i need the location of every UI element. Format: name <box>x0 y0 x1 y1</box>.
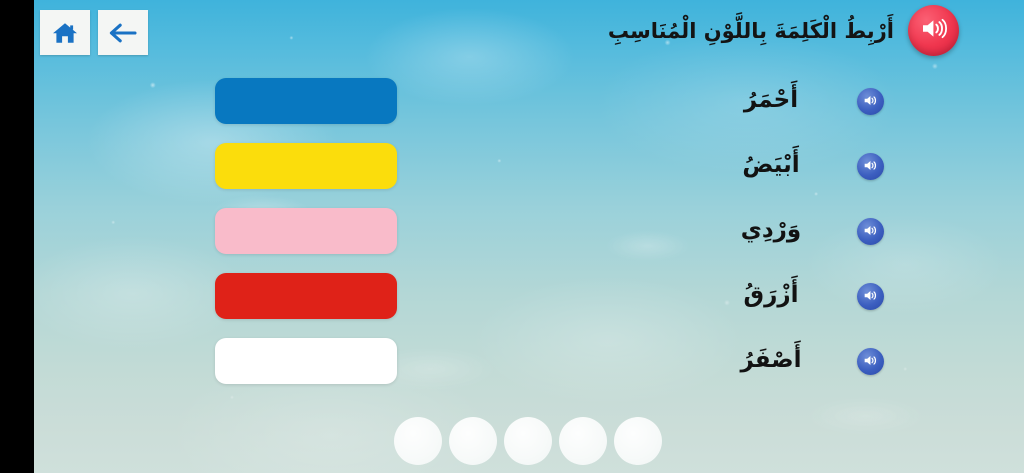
word-audio-button-blue[interactable] <box>857 283 884 310</box>
speaker-icon <box>863 352 878 371</box>
back-button[interactable] <box>98 10 148 55</box>
progress-dot[interactable] <box>449 417 497 465</box>
word-audio-button-pink[interactable] <box>857 218 884 245</box>
word-label-blue[interactable]: أَزْرَقُ <box>711 282 831 310</box>
nav-button-group <box>40 10 148 55</box>
speaker-icon <box>863 287 878 306</box>
speaker-icon <box>920 17 947 44</box>
word-row: أَزْرَقُ <box>634 273 884 319</box>
progress-dot[interactable] <box>614 417 662 465</box>
word-row: أَبْيَضُ <box>634 143 884 189</box>
color-swatch-pink[interactable] <box>215 208 397 254</box>
word-audio-button-red[interactable] <box>857 88 884 115</box>
instruction-header: أَرْبِطُ الْكَلِمَةَ بِاللَّوْنِ الْمُنَ… <box>534 8 894 54</box>
game-scene: أَرْبِطُ الْكَلِمَةَ بِاللَّوْنِ الْمُنَ… <box>34 0 1024 473</box>
page-title: أَرْبِطُ الْكَلِمَةَ بِاللَّوْنِ الْمُنَ… <box>608 17 894 45</box>
word-audio-button-yellow[interactable] <box>857 348 884 375</box>
color-swatch-yellow[interactable] <box>215 143 397 189</box>
word-label-pink[interactable]: وَرْدِي <box>711 217 831 245</box>
app-root: أَرْبِطُ الْكَلِمَةَ بِاللَّوْنِ الْمُنَ… <box>0 0 1024 473</box>
progress-indicator <box>394 417 662 465</box>
speaker-icon <box>863 157 878 176</box>
color-swatch-white[interactable] <box>215 338 397 384</box>
word-label-red[interactable]: أَحْمَرُ <box>711 87 831 115</box>
progress-dot[interactable] <box>504 417 552 465</box>
word-audio-button-white[interactable] <box>857 153 884 180</box>
back-arrow-icon <box>108 21 138 45</box>
progress-dot[interactable] <box>394 417 442 465</box>
word-column: أَحْمَرُ أَبْيَضُ <box>634 78 884 384</box>
home-button[interactable] <box>40 10 90 55</box>
device-letterbox-left <box>0 0 34 473</box>
color-swatch-red[interactable] <box>215 273 397 319</box>
word-row: أَصْفَرُ <box>634 338 884 384</box>
color-swatch-column <box>215 78 397 384</box>
home-icon <box>52 21 78 45</box>
progress-dot[interactable] <box>559 417 607 465</box>
word-row: أَحْمَرُ <box>634 78 884 124</box>
play-instruction-button[interactable] <box>908 5 959 56</box>
word-label-yellow[interactable]: أَصْفَرُ <box>711 347 831 375</box>
speaker-icon <box>863 222 878 241</box>
color-swatch-blue[interactable] <box>215 78 397 124</box>
speaker-icon <box>863 92 878 111</box>
word-row: وَرْدِي <box>634 208 884 254</box>
word-label-white[interactable]: أَبْيَضُ <box>711 152 831 180</box>
